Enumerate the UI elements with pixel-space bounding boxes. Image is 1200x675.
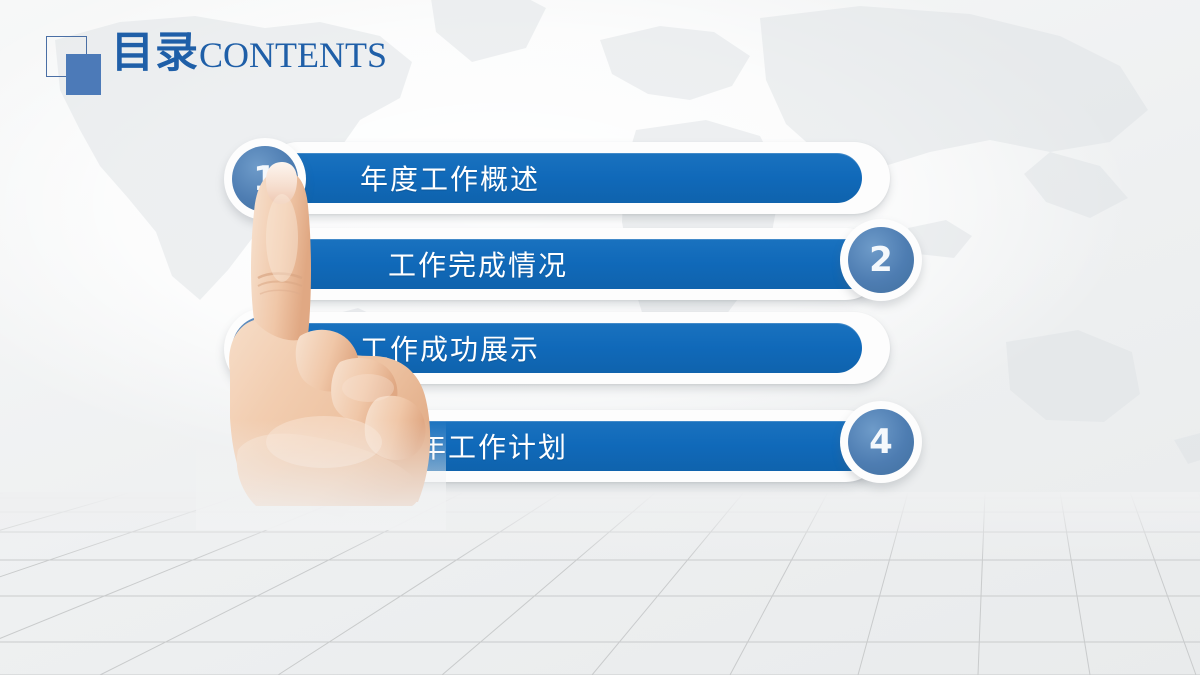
menu-item-4-badge[interactable]: 4: [840, 401, 922, 483]
menu-item-2-number: 2: [848, 227, 914, 293]
menu-item-2-badge[interactable]: 2: [840, 219, 922, 301]
hand-fade-overlay: [196, 420, 446, 530]
menu-item-4-number: 4: [848, 409, 914, 475]
contents-menu: 年度工作概述 1 工作完成情况 2 工作成功展示 3: [0, 0, 1200, 675]
slide-canvas: 目录CONTENTS 年度工作概述 1 工作完成情况 2 工作成功展示: [0, 0, 1200, 675]
